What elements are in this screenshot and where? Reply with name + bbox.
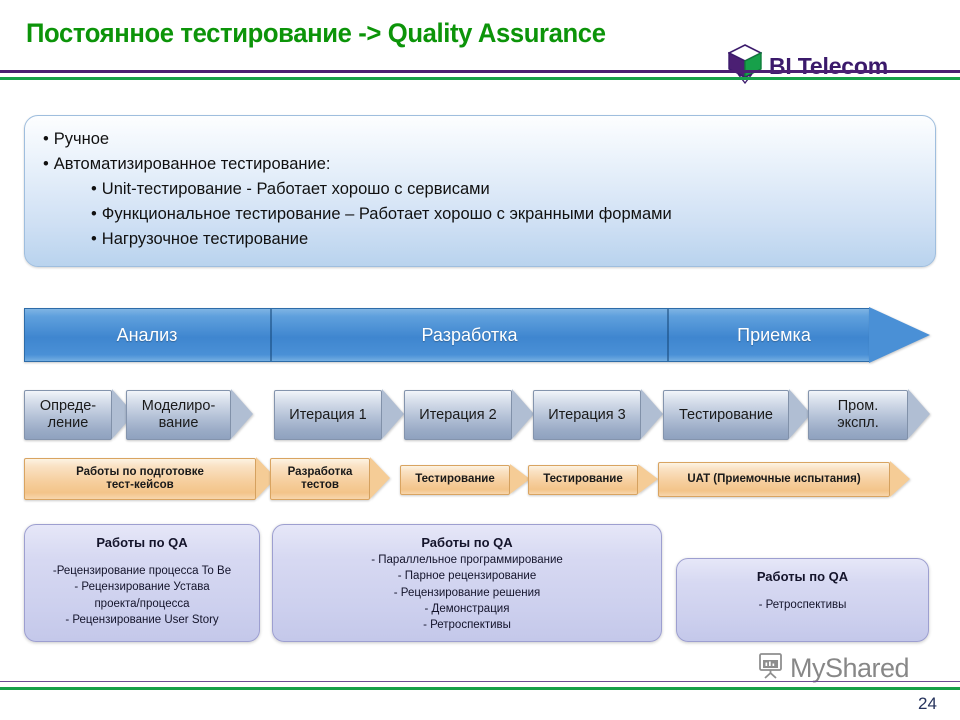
qa-activity-label-line: Тестирование (537, 473, 629, 486)
qa-box-line: - Парное рецензирование (273, 568, 661, 584)
bullet-glyph: • (43, 155, 49, 173)
bullet-text: Ручное (54, 130, 109, 148)
qa-activity-label-line: тестов (288, 479, 353, 492)
chevron-arrow-icon (510, 464, 530, 494)
qa-activity-label-line: тест-кейсов (76, 479, 204, 492)
qa-activity-label-line: Тестирование (409, 473, 501, 486)
brand-logo: BI Telecom (728, 44, 888, 89)
qa-activity-label-line: UAT (Приемочные испытания) (681, 473, 866, 486)
qa-activity-uat[interactable]: UAT (Приемочные испытания) (658, 462, 890, 497)
stage-label-line: ление (40, 415, 96, 432)
qa-box-title: Работы по QA (677, 569, 928, 584)
qa-box-line: - Демонстрация (273, 601, 661, 617)
qa-box-line: - Рецензирование User Story (25, 612, 259, 628)
qa-box-line: - Рецензирование решения (273, 585, 661, 601)
chevron-arrow-icon (638, 464, 658, 494)
chevron-arrow-icon (512, 389, 534, 439)
stage-chevron-production[interactable]: Пром. экспл. (808, 390, 908, 440)
page-number: 24 (918, 694, 937, 714)
qa-activity-test-development[interactable]: Разработка тестов (270, 458, 370, 500)
qa-box-title: Работы по QA (273, 535, 661, 550)
qa-box-line: проекта/процесса (25, 596, 259, 612)
qa-activity-test-case-prep[interactable]: Работы по подготовке тест-кейсов (24, 458, 256, 500)
bullet-glyph: • (43, 130, 49, 148)
qa-box-spacer (25, 552, 259, 563)
bullet-glyph: • (91, 230, 97, 248)
bullet-subitem: •Нагрузочное тестирование (91, 227, 915, 252)
bullet-glyph: • (91, 205, 97, 223)
qa-activity-label-line: Разработка (288, 466, 353, 479)
qa-box-analysis[interactable]: Работы по QA -Рецензирование процесса To… (24, 524, 260, 642)
chevron-arrow-icon (370, 457, 390, 499)
stage-label-line: Итерация 2 (413, 407, 502, 424)
qa-box-development[interactable]: Работы по QA - Параллельное программиров… (272, 524, 662, 642)
chevron-arrow-icon (231, 389, 253, 439)
bullet-glyph: • (91, 180, 97, 198)
qa-box-line: - Параллельное программирование (273, 552, 661, 568)
qa-activity-label-line: Работы по подготовке (76, 466, 204, 479)
stage-label-line: Опреде- (40, 398, 96, 415)
stage-label-line: Итерация 3 (542, 407, 631, 424)
qa-box-line: -Рецензирование процесса To Be (25, 563, 259, 579)
stage-chevron-testing[interactable]: Тестирование (663, 390, 789, 440)
chevron-arrow-icon (641, 389, 663, 439)
myshared-watermark-text: MyShared (790, 653, 909, 684)
phase-segment-acceptance[interactable]: Приемка (669, 308, 879, 362)
footer-divider-purple (0, 681, 960, 682)
stage-label-line: Пром. (837, 398, 879, 415)
bullet-text: Unit-тестирование - Работает хорошо с се… (102, 180, 490, 198)
stage-chevron-iteration-3[interactable]: Итерация 3 (533, 390, 641, 440)
stage-chevron-iteration-1[interactable]: Итерация 1 (274, 390, 382, 440)
chevron-arrow-icon (908, 389, 930, 439)
bullet-subitem: •Unit-тестирование - Работает хорошо с с… (91, 177, 915, 202)
chevron-arrow-icon (890, 461, 910, 497)
phase-bar: Анализ Разработка Приемка (24, 308, 930, 362)
qa-box-title: Работы по QA (25, 535, 259, 550)
qa-box-line: - Рецензирование Устава (25, 579, 259, 595)
stage-label-line: экспл. (837, 415, 879, 432)
qa-activity-testing-2[interactable]: Тестирование (528, 465, 638, 495)
bullet-item: •Автоматизированное тестирование: (43, 152, 915, 177)
header-divider-green (0, 77, 960, 80)
stage-chevron-definition[interactable]: Опреде- ление (24, 390, 112, 440)
cube-icon (728, 44, 762, 89)
footer-divider-green (0, 687, 960, 690)
qa-box-spacer (677, 586, 928, 597)
stage-label-line: Моделиро- (142, 398, 216, 415)
phase-segment-analysis[interactable]: Анализ (24, 308, 270, 362)
stage-chevron-iteration-2[interactable]: Итерация 2 (404, 390, 512, 440)
bullet-item: •Ручное (43, 127, 915, 152)
bullet-panel: •Ручное •Автоматизированное тестирование… (24, 115, 936, 267)
brand-logo-text: BI Telecom (769, 53, 888, 80)
page-title: Постоянное тестирование -> Quality Assur… (26, 18, 606, 49)
bullet-subitem: •Функциональное тестирование – Работает … (91, 202, 915, 227)
qa-box-line: - Ретроспективы (273, 617, 661, 633)
bullet-text: Нагрузочное тестирование (102, 230, 308, 248)
header-divider-purple (0, 70, 960, 73)
stage-label-line: Итерация 1 (283, 407, 372, 424)
bullet-text: Автоматизированное тестирование: (54, 155, 331, 173)
bullet-text: Функциональное тестирование – Работает х… (102, 205, 672, 223)
stage-label-line: Тестирование (673, 407, 779, 424)
stage-chevron-modelling[interactable]: Моделиро- вание (126, 390, 231, 440)
qa-box-acceptance[interactable]: Работы по QA - Ретроспективы (676, 558, 929, 642)
phase-segment-development[interactable]: Разработка (272, 308, 667, 362)
qa-box-line: - Ретроспективы (677, 597, 928, 613)
chevron-arrow-icon (382, 389, 404, 439)
qa-activity-testing-1[interactable]: Тестирование (400, 465, 510, 495)
stage-label-line: вание (142, 415, 216, 432)
